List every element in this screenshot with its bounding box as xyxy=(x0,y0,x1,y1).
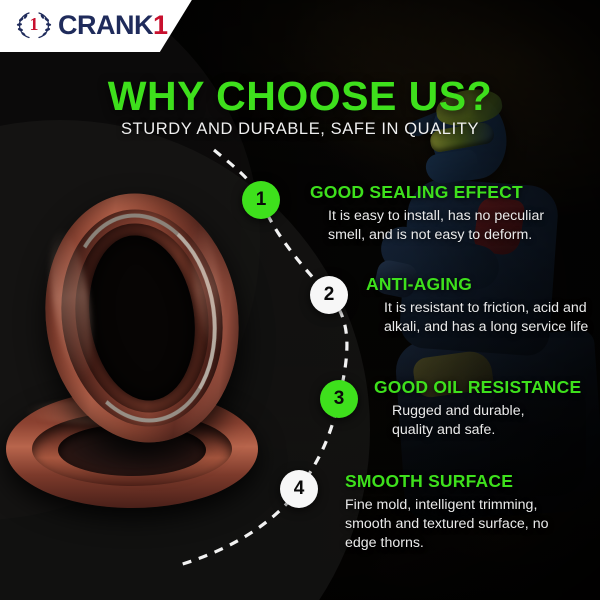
brand-name: CRANK xyxy=(58,12,153,39)
feature-title: ANTI-AGING xyxy=(366,275,594,294)
page-subheadline: STURDY AND DURABLE, SAFE IN QUALITY xyxy=(0,120,600,139)
feature-marker-4[interactable]: 4 xyxy=(280,470,318,508)
feature-body: Fine mold, intelligent trimming, smooth … xyxy=(345,496,595,553)
feature-item-1: GOOD SEALING EFFECT It is easy to instal… xyxy=(310,183,588,245)
emblem-number: 1 xyxy=(16,12,52,36)
feature-body: It is resistant to friction, acid and al… xyxy=(366,299,594,337)
feature-item-2: ANTI-AGING It is resistant to friction, … xyxy=(366,275,594,337)
feature-body: Rugged and durable, quality and safe. xyxy=(374,402,592,440)
feature-marker-2[interactable]: 2 xyxy=(310,276,348,314)
brand-accent-digit: 1 xyxy=(153,12,168,39)
feature-marker-number: 3 xyxy=(334,388,345,410)
laurel-wreath-icon: 1 xyxy=(16,10,52,40)
product-image xyxy=(0,185,290,525)
feature-marker-3[interactable]: 3 xyxy=(320,380,358,418)
feature-marker-number: 2 xyxy=(324,284,335,306)
feature-marker-number: 4 xyxy=(294,478,305,500)
oil-seal-standing xyxy=(30,181,255,455)
feature-item-4: SMOOTH SURFACE Fine mold, intelligent tr… xyxy=(345,472,595,553)
feature-marker-number: 1 xyxy=(256,189,267,211)
page-headline: WHY CHOOSE US? xyxy=(0,76,600,117)
feature-title: SMOOTH SURFACE xyxy=(345,472,595,491)
brand-wordmark: CRANK1 xyxy=(58,12,168,39)
feature-title: GOOD OIL RESISTANCE xyxy=(374,378,592,397)
feature-marker-1[interactable]: 1 xyxy=(242,181,280,219)
feature-body: It is easy to install, has no peculiar s… xyxy=(310,207,588,245)
feature-item-3: GOOD OIL RESISTANCE Rugged and durable, … xyxy=(374,378,592,440)
feature-title: GOOD SEALING EFFECT xyxy=(310,183,588,202)
infographic-canvas: 1 2 3 4 GOOD SEALING EFFECT It is easy t… xyxy=(0,0,600,600)
